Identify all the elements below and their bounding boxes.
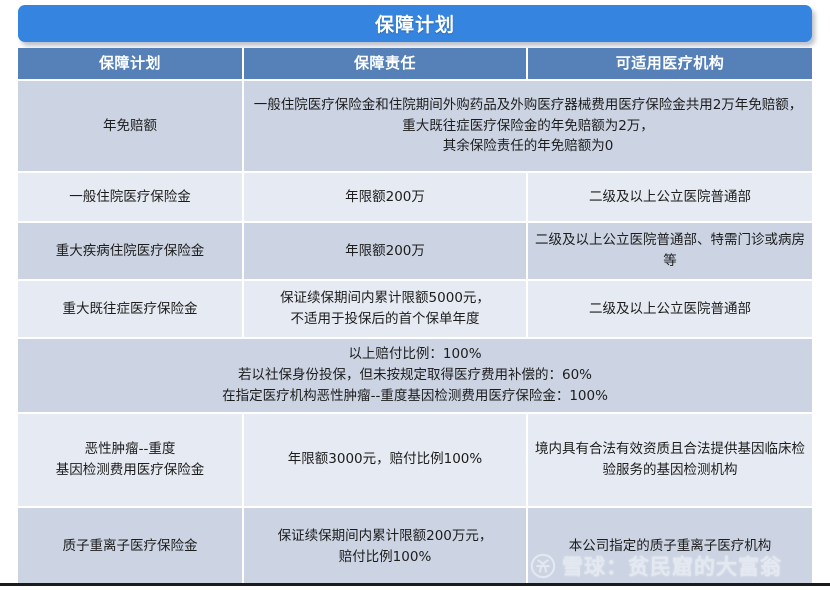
cell-liability: 一般住院医疗保险金和住院期间外购药品及外购医疗器械费用医疗保险金共用2万年免赔额…: [244, 81, 812, 173]
table-row: 质子重离子医疗保险金 保证续保期间内累计限额200万元，赔付比例100% 本公司…: [18, 508, 812, 588]
table-row: 恶性肿瘤--重度基因检测费用医疗保险金 年限额3000元，赔付比例100% 境内…: [18, 414, 812, 508]
cell-plan: 年免赔额: [18, 81, 244, 173]
column-header-institution: 可适用医疗机构: [528, 48, 812, 81]
cell-liability: 保证续保期间内累计限额5000元，不适用于投保后的首个保单年度: [244, 281, 528, 339]
table-row: 重大疾病住院医疗保险金 年限额200万 二级及以上公立医院普通部、特需门诊或病房…: [18, 223, 812, 281]
cell-liability: 年限额200万: [244, 223, 528, 281]
cell-institution: 本公司指定的质子重离子医疗机构: [528, 508, 812, 588]
cell-liability: 年限额3000元，赔付比例100%: [244, 414, 528, 508]
cell-liability: 年限额200万: [244, 173, 528, 223]
table-header: 保障计划 保障责任 可适用医疗机构: [18, 48, 812, 81]
cell-plan: 质子重离子医疗保险金: [18, 508, 244, 588]
table-header-row: 保障计划 保障责任 可适用医疗机构: [18, 48, 812, 81]
cell-institution: 境内具有合法有效资质且合法提供基因临床检验服务的基因检测机构: [528, 414, 812, 508]
cell-ratio-note: 以上赔付比例：100%若以社保身份投保，但未按规定取得医疗费用补偿的：60%在指…: [18, 339, 812, 414]
coverage-table: 保障计划 保障责任 可适用医疗机构 年免赔额 一般住院医疗保险金和住院期间外购药…: [18, 48, 812, 588]
page-title-banner: 保障计划: [18, 5, 812, 42]
cell-institution: 二级及以上公立医院普通部: [528, 281, 812, 339]
column-header-plan: 保障计划: [18, 48, 244, 81]
cell-institution: 二级及以上公立医院普通部: [528, 173, 812, 223]
table-body: 年免赔额 一般住院医疗保险金和住院期间外购药品及外购医疗器械费用医疗保险金共用2…: [18, 81, 812, 588]
cell-plan: 重大疾病住院医疗保险金: [18, 223, 244, 281]
cell-liability: 保证续保期间内累计限额200万元，赔付比例100%: [244, 508, 528, 588]
insurance-plan-table-page: 保障计划 保障计划 保障责任 可适用医疗机构 年免赔额 一般住院医疗保险金和住院…: [0, 0, 830, 590]
table-row-ratio-note: 以上赔付比例：100%若以社保身份投保，但未按规定取得医疗费用补偿的：60%在指…: [18, 339, 812, 414]
page-title: 保障计划: [375, 10, 455, 37]
cell-plan: 恶性肿瘤--重度基因检测费用医疗保险金: [18, 414, 244, 508]
bottom-divider: [0, 583, 830, 586]
column-header-liability: 保障责任: [244, 48, 528, 81]
table-row: 重大既往症医疗保险金 保证续保期间内累计限额5000元，不适用于投保后的首个保单…: [18, 281, 812, 339]
table-row: 年免赔额 一般住院医疗保险金和住院期间外购药品及外购医疗器械费用医疗保险金共用2…: [18, 81, 812, 173]
cell-plan: 一般住院医疗保险金: [18, 173, 244, 223]
cell-institution: 二级及以上公立医院普通部、特需门诊或病房等: [528, 223, 812, 281]
table-row: 一般住院医疗保险金 年限额200万 二级及以上公立医院普通部: [18, 173, 812, 223]
cell-plan: 重大既往症医疗保险金: [18, 281, 244, 339]
